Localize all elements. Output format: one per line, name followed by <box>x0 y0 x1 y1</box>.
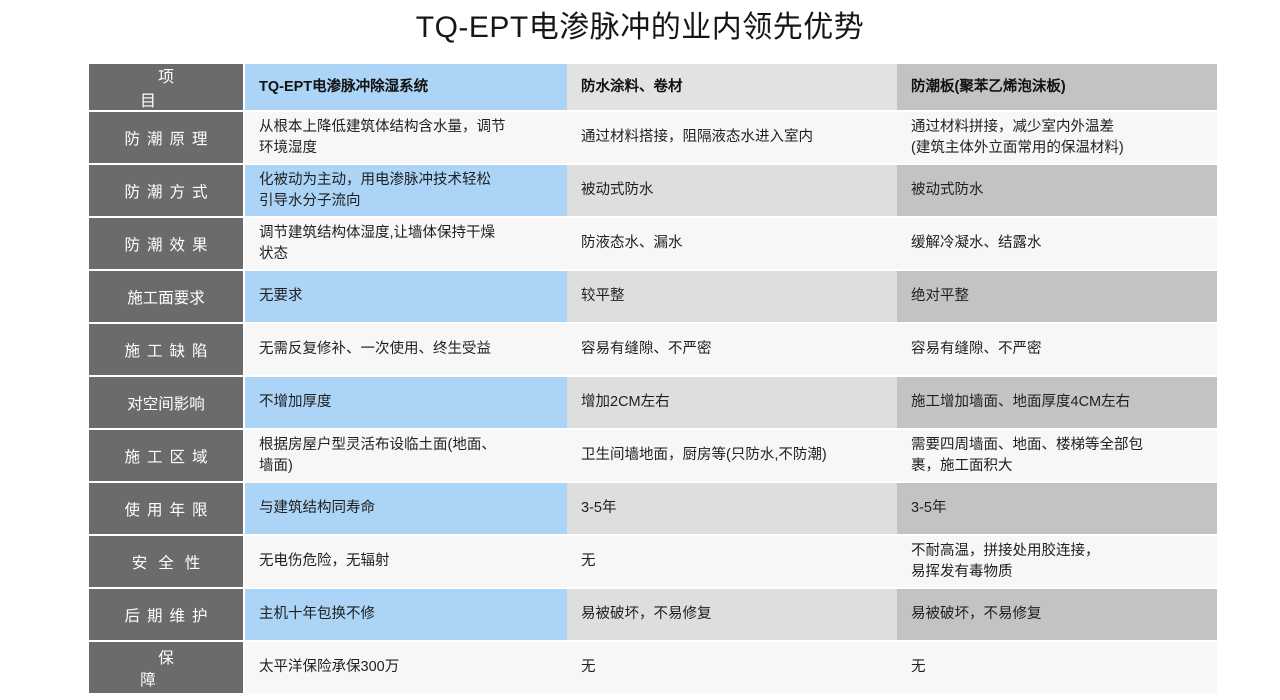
row-label: 防潮原理 <box>89 112 243 163</box>
cell-text: 卫生间墙地面，厨房等(只防水,不防潮) <box>581 445 827 466</box>
row-label-text: 防潮方式 <box>117 180 214 202</box>
cell-tqept: 不增加厚度 <box>245 377 567 428</box>
cell-text: 施工增加墙面、地面厚度4CM左右 <box>911 392 1130 413</box>
cell-text: 主机十年包换不修 <box>259 604 375 625</box>
cell-text: 无 <box>581 551 596 572</box>
cell-text: 从根本上降低建筑体结构含水量，调节 环境湿度 <box>259 117 506 159</box>
cell-board: 容易有缝隙、不严密 <box>897 324 1217 375</box>
cell-text: 绝对平整 <box>911 286 969 307</box>
cell-board: 易被破坏，不易修复 <box>897 589 1217 640</box>
cell-board: 被动式防水 <box>897 165 1217 216</box>
row-label-text: 使用年限 <box>117 498 214 520</box>
row-label-text: 防潮原理 <box>117 127 214 149</box>
cell-text: 需要四周墙面、地面、楼梯等全部包 裹，施工面积大 <box>911 435 1143 477</box>
cell-text: 无 <box>911 657 926 678</box>
row-label-text: 后期维护 <box>117 604 214 626</box>
cell-tqept: 化被动为主动，用电渗脉冲技术轻松 引导水分子流向 <box>245 165 567 216</box>
cell-text: 不增加厚度 <box>259 392 332 413</box>
table-header-row: 项目 TQ-EPT电渗脉冲除湿系统 防水涂料、卷材 防潮板(聚苯乙烯泡沫板) <box>89 64 1215 112</box>
row-label: 对空间影响 <box>89 377 243 428</box>
cell-board: 施工增加墙面、地面厚度4CM左右 <box>897 377 1217 428</box>
cell-tqept: 与建筑结构同寿命 <box>245 483 567 534</box>
table-row: 后期维护 主机十年包换不修 易被破坏，不易修复 易被破坏，不易修复 <box>89 589 1215 642</box>
cell-text: 容易有缝隙、不严密 <box>581 339 712 360</box>
table-row: 防潮原理 从根本上降低建筑体结构含水量，调节 环境湿度 通过材料搭接，阻隔液态水… <box>89 112 1215 165</box>
cell-text: 易被破坏，不易修复 <box>911 604 1042 625</box>
cell-text: 不耐高温，拼接处用胶连接， 易挥发有毒物质 <box>911 541 1100 583</box>
cell-text: 3-5年 <box>911 498 946 519</box>
cell-text: 被动式防水 <box>581 180 654 201</box>
cell-coating: 易被破坏，不易修复 <box>567 589 897 640</box>
cell-text: 缓解冷凝水、结露水 <box>911 233 1042 254</box>
cell-text: 无电伤危险，无辐射 <box>259 551 390 572</box>
cell-tqept: 无需反复修补、一次使用、终生受益 <box>245 324 567 375</box>
header-item-label: 项目 <box>97 63 235 111</box>
header-coating-label: 防水涂料、卷材 <box>581 77 683 98</box>
cell-text: 被动式防水 <box>911 180 984 201</box>
cell-text: 通过材料搭接，阻隔液态水进入室内 <box>581 127 813 148</box>
row-label: 安全性 <box>89 536 243 587</box>
cell-tqept: 根据房屋户型灵活布设临土面(地面、 墙面) <box>245 430 567 481</box>
row-label-text: 施工区域 <box>117 445 214 467</box>
cell-coating: 3-5年 <box>567 483 897 534</box>
table-row: 使用年限 与建筑结构同寿命 3-5年 3-5年 <box>89 483 1215 536</box>
cell-text: 增加2CM左右 <box>581 392 670 413</box>
header-tqept-label: TQ-EPT电渗脉冲除湿系统 <box>259 77 428 98</box>
header-cell-item: 项目 <box>89 64 243 110</box>
row-label-text: 保障 <box>97 646 235 690</box>
table-row: 对空间影响 不增加厚度 增加2CM左右 施工增加墙面、地面厚度4CM左右 <box>89 377 1215 430</box>
table-row: 保障 太平洋保险承保300万 无 无 <box>89 642 1215 695</box>
cell-tqept: 太平洋保险承保300万 <box>245 642 567 693</box>
cell-text: 化被动为主动，用电渗脉冲技术轻松 引导水分子流向 <box>259 170 491 212</box>
row-label: 保障 <box>89 642 243 693</box>
table-row: 安全性 无电伤危险，无辐射 无 不耐高温，拼接处用胶连接， 易挥发有毒物质 <box>89 536 1215 589</box>
cell-text: 与建筑结构同寿命 <box>259 498 375 519</box>
cell-tqept: 调节建筑结构体湿度,让墙体保持干燥 状态 <box>245 218 567 269</box>
cell-board: 不耐高温，拼接处用胶连接， 易挥发有毒物质 <box>897 536 1217 587</box>
row-label-text: 防潮效果 <box>117 233 214 255</box>
cell-board: 通过材料拼接，减少室内外温差 (建筑主体外立面常用的保温材料) <box>897 112 1217 163</box>
cell-text: 防液态水、漏水 <box>581 233 683 254</box>
row-label: 防潮方式 <box>89 165 243 216</box>
cell-text: 调节建筑结构体湿度,让墙体保持干燥 状态 <box>259 223 495 265</box>
cell-tqept: 无电伤危险，无辐射 <box>245 536 567 587</box>
table-row: 防潮效果 调节建筑结构体湿度,让墙体保持干燥 状态 防液态水、漏水 缓解冷凝水、… <box>89 218 1215 271</box>
row-label: 防潮效果 <box>89 218 243 269</box>
cell-tqept: 从根本上降低建筑体结构含水量，调节 环境湿度 <box>245 112 567 163</box>
cell-text: 容易有缝隙、不严密 <box>911 339 1042 360</box>
table-row: 施工缺陷 无需反复修补、一次使用、终生受益 容易有缝隙、不严密 容易有缝隙、不严… <box>89 324 1215 377</box>
row-label-text: 施工面要求 <box>127 286 205 308</box>
cell-tqept: 无要求 <box>245 271 567 322</box>
cell-text: 较平整 <box>581 286 625 307</box>
header-cell-tqept: TQ-EPT电渗脉冲除湿系统 <box>245 64 567 110</box>
row-label-text: 施工缺陷 <box>117 339 214 361</box>
cell-coating: 无 <box>567 536 897 587</box>
row-label: 施工缺陷 <box>89 324 243 375</box>
cell-text: 无需反复修补、一次使用、终生受益 <box>259 339 491 360</box>
cell-coating: 通过材料搭接，阻隔液态水进入室内 <box>567 112 897 163</box>
header-cell-board: 防潮板(聚苯乙烯泡沫板) <box>897 64 1217 110</box>
cell-board: 无 <box>897 642 1217 693</box>
cell-coating: 无 <box>567 642 897 693</box>
cell-coating: 容易有缝隙、不严密 <box>567 324 897 375</box>
cell-text: 3-5年 <box>581 498 616 519</box>
cell-tqept: 主机十年包换不修 <box>245 589 567 640</box>
table-row: 施工面要求 无要求 较平整 绝对平整 <box>89 271 1215 324</box>
cell-board: 绝对平整 <box>897 271 1217 322</box>
cell-board: 需要四周墙面、地面、楼梯等全部包 裹，施工面积大 <box>897 430 1217 481</box>
cell-board: 3-5年 <box>897 483 1217 534</box>
row-label-text: 对空间影响 <box>127 392 205 414</box>
row-label-text: 安全性 <box>121 551 212 573</box>
comparison-table: 项目 TQ-EPT电渗脉冲除湿系统 防水涂料、卷材 防潮板(聚苯乙烯泡沫板) 防… <box>89 64 1215 695</box>
cell-board: 缓解冷凝水、结露水 <box>897 218 1217 269</box>
header-cell-coating: 防水涂料、卷材 <box>567 64 897 110</box>
row-label: 使用年限 <box>89 483 243 534</box>
cell-coating: 增加2CM左右 <box>567 377 897 428</box>
header-board-label: 防潮板(聚苯乙烯泡沫板) <box>911 77 1066 98</box>
cell-text: 太平洋保险承保300万 <box>259 657 399 678</box>
cell-coating: 被动式防水 <box>567 165 897 216</box>
cell-coating: 防液态水、漏水 <box>567 218 897 269</box>
cell-text: 无要求 <box>259 286 303 307</box>
cell-text: 通过材料拼接，减少室内外温差 (建筑主体外立面常用的保温材料) <box>911 117 1124 159</box>
cell-text: 无 <box>581 657 596 678</box>
cell-text: 易被破坏，不易修复 <box>581 604 712 625</box>
row-label: 施工区域 <box>89 430 243 481</box>
row-label: 施工面要求 <box>89 271 243 322</box>
page-title: TQ-EPT电渗脉冲的业内领先优势 <box>0 6 1280 50</box>
cell-text: 根据房屋户型灵活布设临土面(地面、 墙面) <box>259 435 496 477</box>
cell-coating: 较平整 <box>567 271 897 322</box>
table-row: 防潮方式 化被动为主动，用电渗脉冲技术轻松 引导水分子流向 被动式防水 被动式防… <box>89 165 1215 218</box>
table-row: 施工区域 根据房屋户型灵活布设临土面(地面、 墙面) 卫生间墙地面，厨房等(只防… <box>89 430 1215 483</box>
row-label: 后期维护 <box>89 589 243 640</box>
cell-coating: 卫生间墙地面，厨房等(只防水,不防潮) <box>567 430 897 481</box>
slide-page: TQ-EPT电渗脉冲的业内领先优势 项目 TQ-EPT电渗脉冲除湿系统 防水涂料… <box>0 0 1280 700</box>
